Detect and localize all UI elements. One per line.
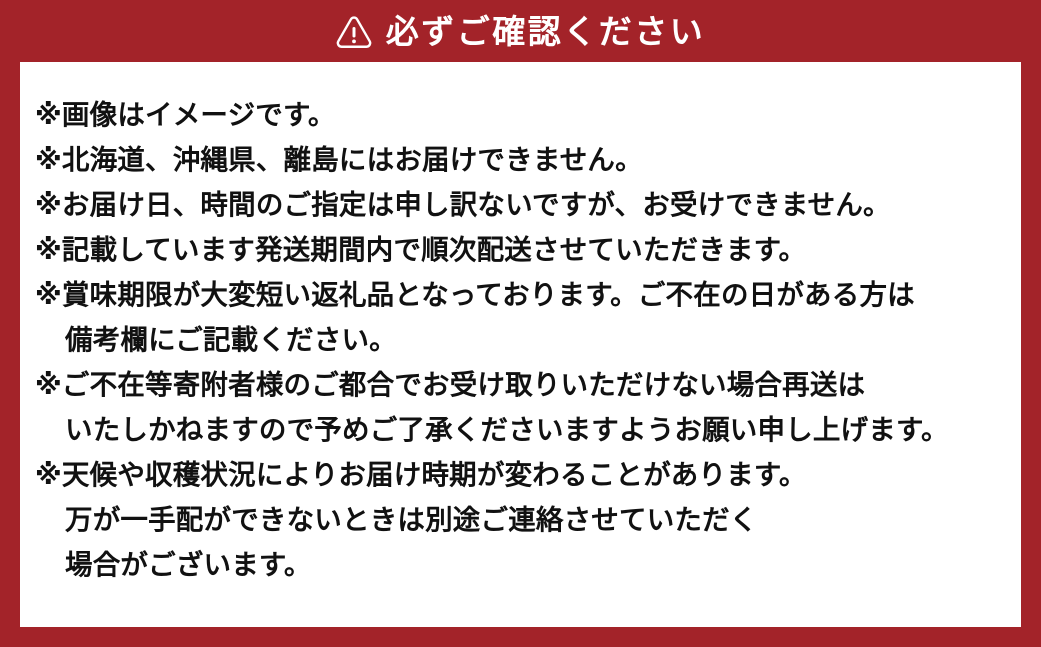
notice-line: いたしかねますので予めご了承くださいますようお願い申し上げます。 xyxy=(35,407,999,452)
notice-body-panel: ※画像はイメージです。 ※北海道、沖縄県、離島にはお届けできません。 ※お届け日… xyxy=(20,62,1021,627)
notice-line: ※天候や収穫状況によりお届け時期が変わることがあります。 xyxy=(35,452,999,497)
notice-line: ※北海道、沖縄県、離島にはお届けできません。 xyxy=(35,137,999,182)
notice-line: ※記載しています発送期間内で順次配送させていただきます。 xyxy=(35,227,999,272)
notice-line: 万が一手配ができないときは別途ご連絡させていただく xyxy=(35,497,999,542)
page-title: 必ずご確認ください xyxy=(386,15,706,48)
notice-line-list: ※画像はイメージです。 ※北海道、沖縄県、離島にはお届けできません。 ※お届け日… xyxy=(35,92,999,587)
warning-triangle-icon xyxy=(336,15,372,48)
notice-line: ※ご不在等寄附者様のご都合でお受け取りいただけない場合再送は xyxy=(35,362,999,407)
notice-line: ※賞味期限が大変短い返礼品となっております。ご不在の日がある方は xyxy=(35,272,999,317)
notice-header: 必ずご確認ください xyxy=(0,0,1041,62)
notice-card: 必ずご確認ください ※画像はイメージです。 ※北海道、沖縄県、離島にはお届けでき… xyxy=(0,0,1041,647)
notice-line: 場合がございます。 xyxy=(35,542,999,587)
notice-line: ※画像はイメージです。 xyxy=(35,92,999,137)
notice-line: 備考欄にご記載ください。 xyxy=(35,317,999,362)
notice-line: ※お届け日、時間のご指定は申し訳ないですが、お受けできません。 xyxy=(35,182,999,227)
